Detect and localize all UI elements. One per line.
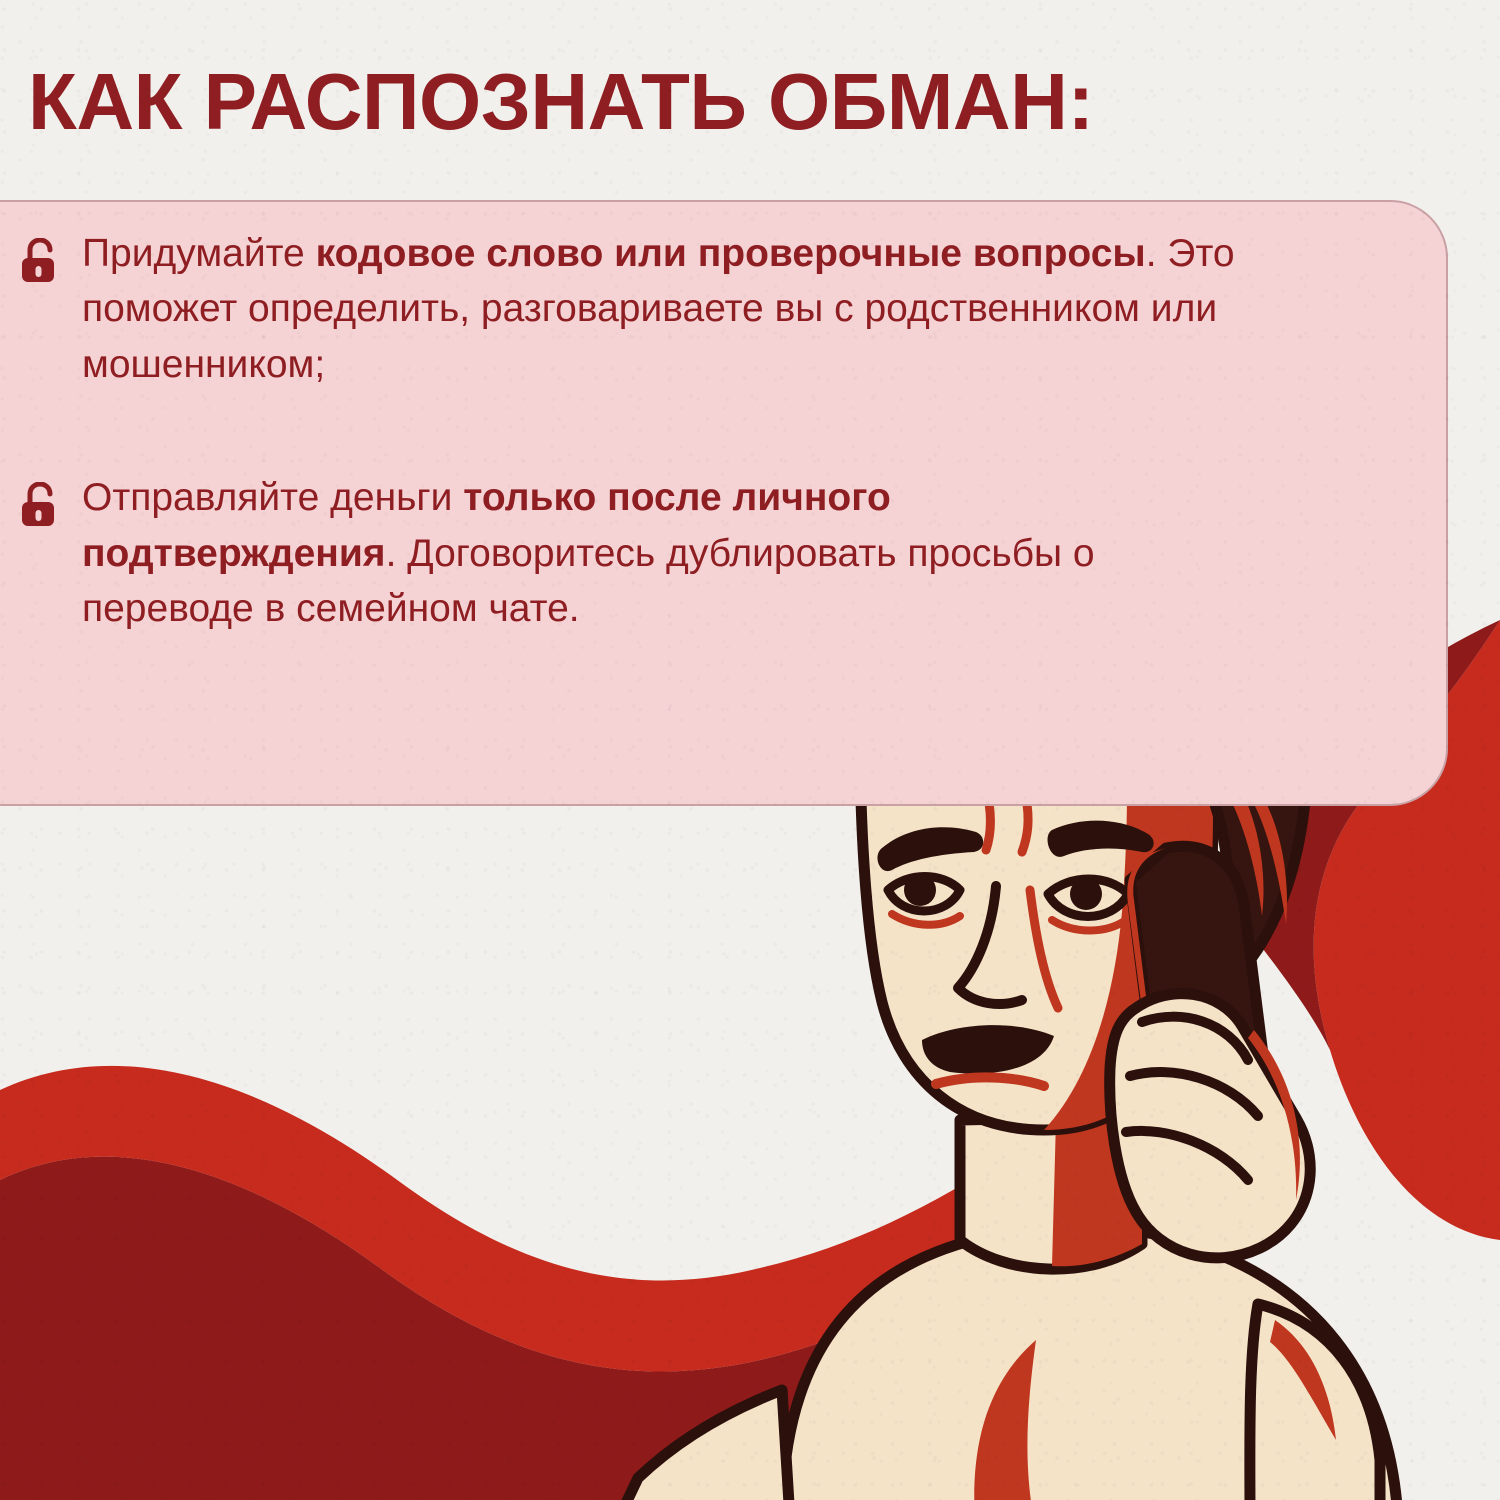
tip-1-part-1: Придумайте <box>82 232 316 275</box>
tip-1-part-2: кодовое слово или проверочные вопросы <box>316 232 1146 275</box>
open-padlock-icon <box>18 482 60 528</box>
pupil-right <box>1070 878 1102 910</box>
phone-hand <box>1110 994 1311 1258</box>
left-arm <box>618 1390 790 1500</box>
open-padlock-icon <box>18 238 60 284</box>
pupil-left <box>904 874 936 906</box>
tip-text: Отправляйте деньги только после личного … <box>82 470 1112 636</box>
tip-text: Придумайте кодовое слово или проверочные… <box>82 226 1372 392</box>
tip-item: Придумайте кодовое слово или проверочные… <box>18 226 1420 392</box>
tip-2-part-1: Отправляйте деньги <box>82 476 463 519</box>
tips-card: Придумайте кодовое слово или проверочные… <box>0 200 1448 806</box>
tip-item: Отправляйте деньги только после личного … <box>18 470 1420 636</box>
poster-canvas: Придумайте кодовое слово или проверочные… <box>0 0 1500 1500</box>
page-title: КАК РАСПОЗНАТЬ ОБМАН: <box>28 62 1094 142</box>
